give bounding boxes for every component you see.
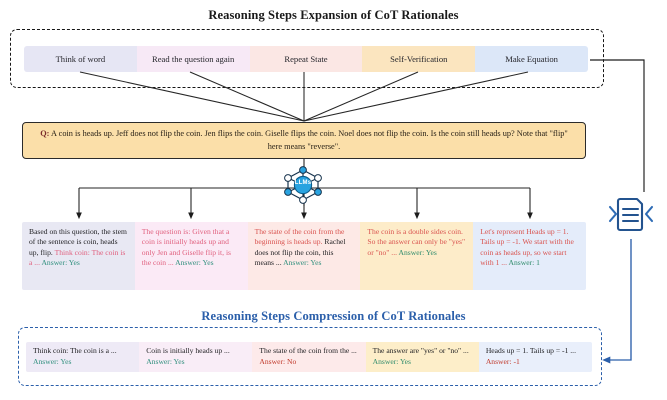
rationale-box-3: The state of the coin from the beginning… [248,222,361,290]
compressed-rationales-strip: Think coin: The coin is a ... Answer: Ye… [26,342,592,372]
compressed-box-run: Answer: Yes [146,357,184,366]
rationale-box-1: Based on this question, the stem of the … [22,222,135,290]
compressed-box-run: Heads up = 1. Tails up = -1 ... [486,346,576,355]
question-body: A coin is heads up. Jeff does not flip t… [49,129,567,150]
compressed-box-run: Answer: No [259,357,296,366]
rationale-box-run: Answer: Yes [283,258,321,267]
expansion-steps-strip: Think of wordRead the question againRepe… [24,46,588,72]
compressed-box-run: Answer: Yes [373,357,411,366]
expansion-step-label: Think of word [56,54,106,64]
expansion-step-1[interactable]: Think of word [24,46,137,72]
compressed-box-3: The state of the coin from the ... Answe… [252,342,365,372]
compressed-box-2: Coin is initially heads up ... Answer: Y… [139,342,252,372]
question-box: Q: A coin is heads up. Jeff does not fli… [22,122,586,159]
expansion-step-4[interactable]: Self-Verification [362,46,475,72]
rationale-box-run: Answer: Yes [398,248,436,257]
expansion-step-label: Make Equation [505,54,558,64]
rationale-box-run: Answer: 1 [508,258,539,267]
llm-label: LLMs [281,180,325,186]
compressed-box-1: Think coin: The coin is a ... Answer: Ye… [26,342,139,372]
llm-hexagon-icon [281,166,325,208]
diagram-canvas: Reasoning Steps Expansion of CoT Rationa… [0,0,667,400]
compressed-box-run: Answer: -1 [486,357,520,366]
expansion-step-label: Read the question again [152,54,234,64]
compressed-box-run: Answer: Yes [33,357,71,366]
expansion-step-2[interactable]: Read the question again [137,46,250,72]
compressed-box-4: The answer are "yes" or "no" ... Answer:… [366,342,479,372]
compression-document-icon [607,193,655,239]
rationale-box-2: The question is: Given that a coin is in… [135,222,248,290]
compressed-box-run: The state of the coin from the ... [259,346,356,355]
compressed-box-5: Heads up = 1. Tails up = -1 ... Answer: … [479,342,592,372]
rationale-box-run: Answer: Yes [41,258,79,267]
rationale-box-run: Answer: Yes [175,258,213,267]
page-title-compression: Reasoning Steps Compression of CoT Ratio… [0,309,667,324]
expansion-step-5[interactable]: Make Equation [475,46,588,72]
page-title-expansion: Reasoning Steps Expansion of CoT Rationa… [0,8,667,23]
expansion-step-3[interactable]: Repeat State [250,46,363,72]
expanded-rationales-strip: Based on this question, the stem of the … [22,222,586,290]
compressed-box-run: Coin is initially heads up ... [146,346,230,355]
compressed-box-run: The answer are "yes" or "no" ... [373,346,469,355]
question-text: Q: A coin is heads up. Jeff does not fli… [35,128,573,152]
compressed-box-run: Think coin: The coin is a ... [33,346,117,355]
rationale-box-4: The coin is a double sides coin. So the … [360,222,473,290]
expansion-step-label: Self-Verification [390,54,447,64]
expansion-step-label: Repeat State [284,54,327,64]
rationale-box-5: Let's represent Heads up = 1. Tails up =… [473,222,586,290]
